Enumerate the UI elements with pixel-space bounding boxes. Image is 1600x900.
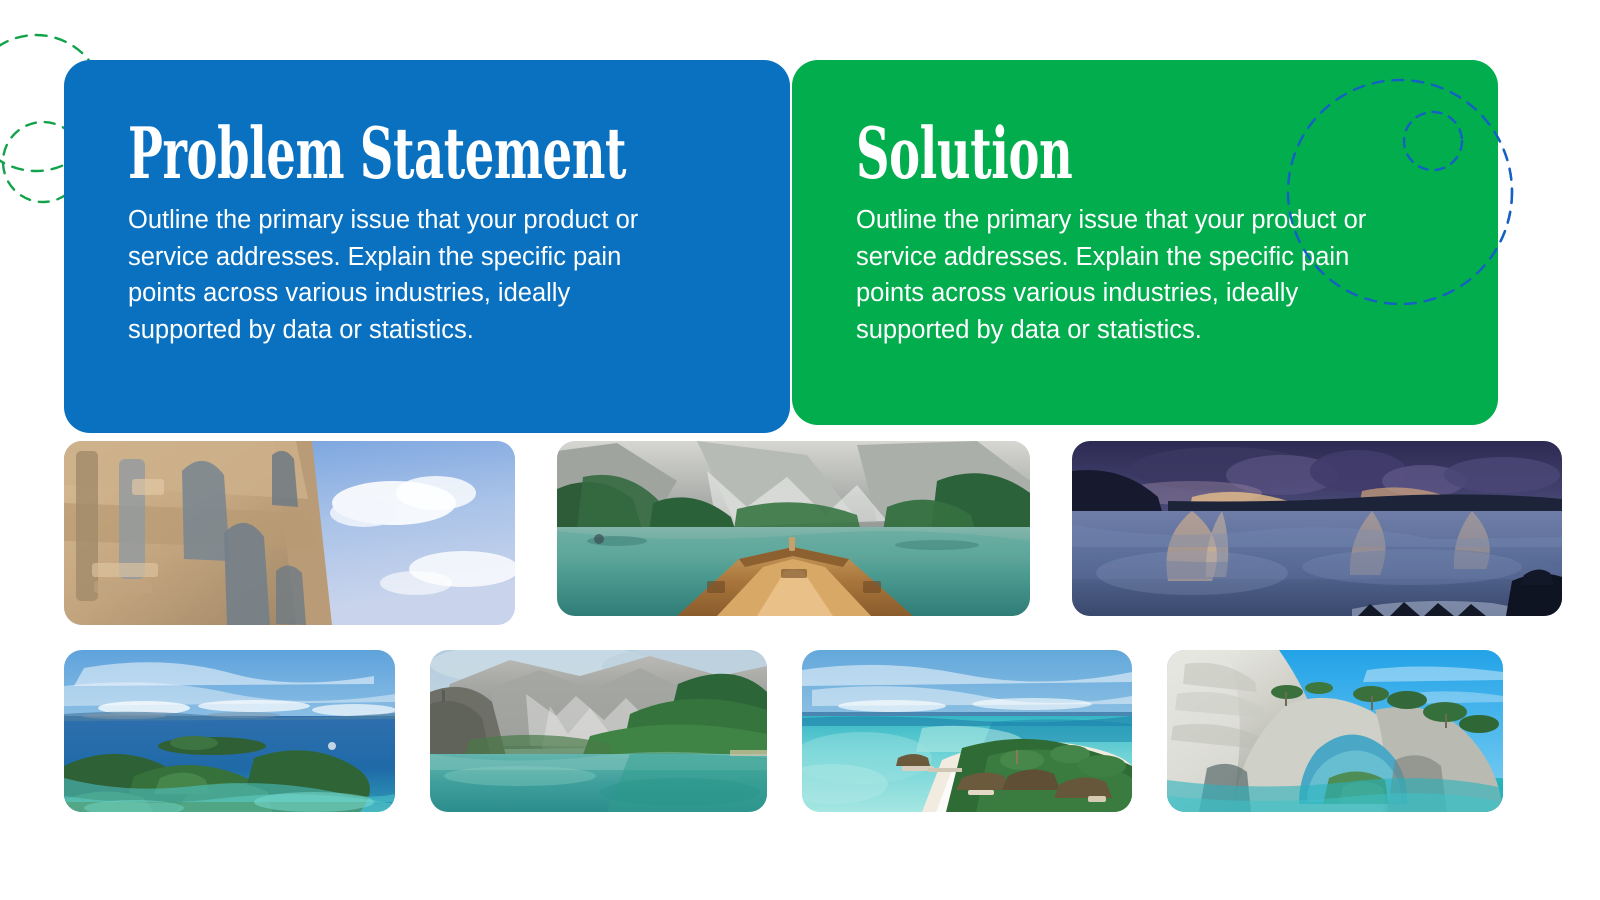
solution-body: Outline the primary issue that your prod… (856, 202, 1401, 349)
tropical-archipelago-photo[interactable] (64, 650, 395, 812)
photo-row-1 (64, 441, 1530, 589)
solution-card[interactable]: Solution Outline the primary issue that … (792, 60, 1498, 425)
solution-title: Solution (856, 118, 1320, 189)
photo-row-2 (64, 650, 1468, 812)
misty-mountain-lake-photo[interactable] (430, 650, 767, 812)
alpine-lake-boat-photo[interactable] (557, 441, 1030, 616)
problem-statement-title: Problem Statement (128, 118, 608, 189)
limestone-sea-arch-photo[interactable] (1167, 650, 1503, 812)
roman-amphitheatre-photo[interactable] (64, 441, 515, 625)
problem-statement-body: Outline the primary issue that your prod… (128, 202, 668, 349)
island-resort-beach-photo[interactable] (802, 650, 1132, 812)
problem-statement-card[interactable]: Problem Statement Outline the primary is… (64, 60, 790, 433)
twilight-bay-photo[interactable] (1072, 441, 1562, 616)
presentation-slide: Problem Statement Outline the primary is… (0, 0, 1600, 900)
